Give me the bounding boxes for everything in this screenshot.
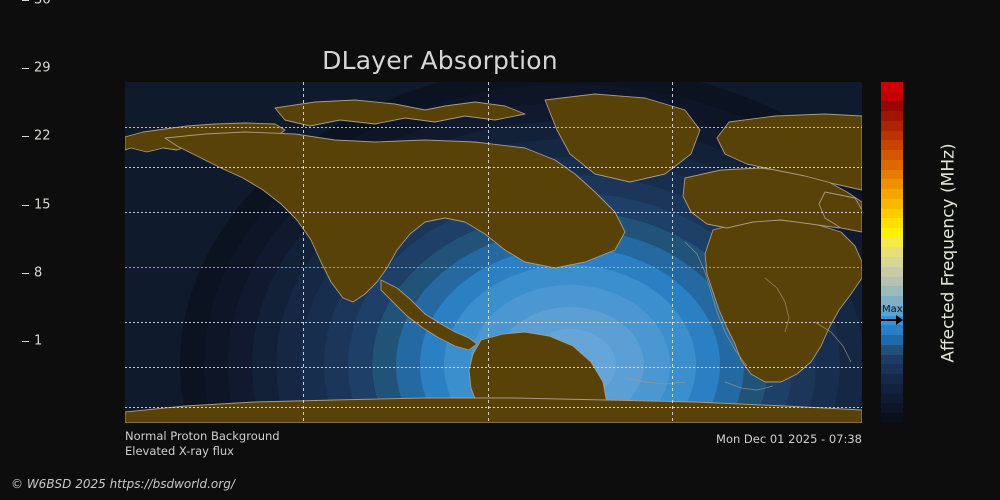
- colorbar-band: [881, 101, 903, 111]
- xray-status-line: Elevated X-ray flux: [125, 444, 280, 459]
- colorbar[interactable]: Max: [881, 82, 903, 423]
- colorbar-band: [881, 257, 903, 267]
- colorbar-band: [881, 238, 903, 248]
- colorbar-band: [881, 131, 903, 141]
- colorbar-band: [881, 316, 903, 326]
- colorbar-band: [881, 374, 903, 384]
- colorbar-band: [881, 189, 903, 199]
- colorbar-tick-label: 36: [34, 0, 51, 7]
- colorbar-tick: 15: [22, 205, 51, 206]
- colorbar-band: [881, 247, 903, 257]
- colorbar-band: [881, 335, 903, 345]
- colorbar-tick: 8: [22, 273, 42, 274]
- footer-credit: © W6BSD 2025 https://bsdworld.org/: [11, 478, 235, 490]
- colorbar-band: [881, 82, 903, 92]
- colorbar-band: [881, 325, 903, 335]
- colorbar-band: [881, 150, 903, 160]
- colorbar-band: [881, 209, 903, 219]
- colorbar-tick-mark: [22, 273, 29, 274]
- colorbar-tick: 29: [22, 68, 51, 69]
- colorbar-band: [881, 306, 903, 316]
- colorbar-tick-mark: [22, 205, 29, 206]
- colorbar-tick-label: 1: [34, 335, 42, 348]
- colorbar-band: [881, 92, 903, 102]
- colorbar-tick-label: 22: [34, 130, 51, 143]
- colorbar-band: [881, 296, 903, 306]
- colorbar-tick-label: 29: [34, 62, 51, 75]
- colorbar-band: [881, 364, 903, 374]
- colorbar-band: [881, 403, 903, 413]
- colorbar-gradient: [881, 82, 903, 423]
- status-caption: Normal Proton Background Elevated X-ray …: [125, 429, 280, 459]
- colorbar-band: [881, 160, 903, 170]
- colorbar-band: [881, 179, 903, 189]
- colorbar-tick-mark: [22, 136, 29, 137]
- colorbar-ticks: 1815222936: [22, 0, 82, 341]
- proton-status-line: Normal Proton Background: [125, 429, 280, 444]
- colorbar-band: [881, 111, 903, 121]
- colorbar-tick-label: 15: [34, 198, 51, 211]
- timestamp-label: Mon Dec 01 2025 - 07:38: [520, 432, 862, 446]
- colorbar-tick: 22: [22, 136, 51, 137]
- colorbar-band: [881, 199, 903, 209]
- colorbar-axis-label: Affected Frequency (MHz): [936, 82, 962, 423]
- colorbar-band: [881, 218, 903, 228]
- colorbar-band: [881, 413, 903, 423]
- colorbar-tick: 1: [22, 341, 42, 342]
- colorbar-tick-mark: [22, 341, 29, 342]
- colorbar-band: [881, 384, 903, 394]
- colorbar-band: [881, 345, 903, 355]
- colorbar-tick-label: 8: [34, 266, 42, 279]
- colorbar-tick: 36: [22, 0, 51, 1]
- colorbar-band: [881, 394, 903, 404]
- colorbar-band: [881, 170, 903, 180]
- colorbar-band: [881, 140, 903, 150]
- colorbar-band: [881, 121, 903, 131]
- colorbar-band: [881, 286, 903, 296]
- page-title: DLayer Absorption: [0, 48, 880, 73]
- colorbar-band: [881, 277, 903, 287]
- colorbar-tick-mark: [22, 0, 29, 1]
- colorbar-band: [881, 355, 903, 365]
- map-canvas: [125, 82, 862, 423]
- colorbar-band: [881, 267, 903, 277]
- colorbar-axis-label-text: Affected Frequency (MHz): [939, 143, 959, 362]
- map-panel[interactable]: [125, 82, 862, 423]
- colorbar-band: [881, 228, 903, 238]
- colorbar-tick-mark: [22, 68, 29, 69]
